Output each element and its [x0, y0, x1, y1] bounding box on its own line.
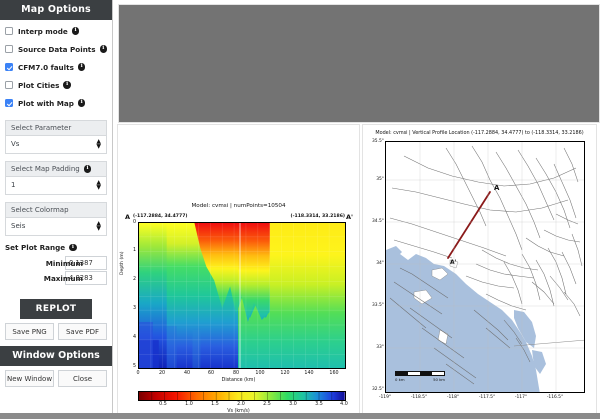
- info-icon-interp-mode[interactable]: i: [72, 27, 80, 35]
- map-lat-tick-4: 33.5°: [365, 303, 384, 308]
- checkbox-source-data-points[interactable]: [5, 45, 13, 53]
- checkbox-row-cfm-faults[interactable]: CFM7.0 faults i: [5, 62, 112, 72]
- select-colormap-value: Seis: [11, 222, 25, 230]
- panel-title-window-options: Window Options: [0, 346, 112, 366]
- map-lon-tick-2: -118°: [442, 395, 464, 400]
- info-icon-cfm-faults[interactable]: i: [78, 63, 86, 71]
- svg-text:A': A': [450, 259, 457, 266]
- x-tick-100: 100: [253, 371, 267, 376]
- map-lat-tick-1: 35°: [365, 177, 384, 182]
- select-parameter-value: Vs: [11, 140, 19, 148]
- scale-label-left: 0 km: [395, 377, 405, 382]
- colorbar: [138, 391, 346, 401]
- checkbox-label-interp-mode: Interp mode: [18, 27, 68, 36]
- group-header-select-parameter: Select Parameter: [6, 121, 106, 136]
- cross-section-coord-left: (-117.2884, 34.4777): [133, 214, 188, 219]
- map-plot[interactable]: Model: cvmsi | Vertical Profile Location…: [362, 124, 597, 419]
- window-buttons-row: New Window Close: [5, 370, 107, 387]
- set-plot-range-header: Set Plot Range i: [5, 243, 107, 252]
- x-tick-140: 140: [302, 371, 316, 376]
- scale-seg-2: [408, 372, 420, 375]
- chevron-updown-icon-colormap[interactable]: ▲▼: [96, 221, 101, 231]
- select-map-padding-value: 1: [11, 181, 15, 189]
- sidebar: Map Options Interp mode i Source Data Po…: [0, 0, 113, 419]
- group-label-select-map-padding: Select Map Padding: [11, 165, 80, 173]
- colorbar-tick-2: 1.5: [208, 402, 222, 407]
- cross-section-marker-a-prime: A': [346, 213, 353, 221]
- select-parameter[interactable]: Vs ▲▼: [6, 136, 106, 153]
- map-lon-tick-0: -119°: [374, 395, 396, 400]
- cross-section-x-axis-label: Distance (km): [118, 378, 359, 383]
- group-label-select-colormap: Select Colormap: [11, 206, 69, 214]
- empty-gray-panel: [118, 4, 600, 123]
- y-tick-4: 4: [127, 335, 136, 340]
- svg-text:A: A: [494, 184, 500, 192]
- cross-section-coord-right: (-118.3314, 33.2186): [291, 214, 346, 219]
- y-tick-5: 5: [127, 364, 136, 369]
- scale-seg-4: [432, 372, 444, 375]
- scale-seg-1: [396, 372, 408, 375]
- checkbox-row-plot-with-map[interactable]: Plot with Map i: [5, 98, 112, 108]
- scale-seg-3: [420, 372, 432, 375]
- save-buttons-row: Save PNG Save PDF: [5, 323, 107, 340]
- checkbox-list: Interp mode i Source Data Points i CFM7.…: [0, 20, 112, 120]
- scale-bar-graphic: [395, 371, 445, 376]
- y-tick-0: 0: [127, 220, 136, 225]
- map-lon-tick-3: -117.5°: [476, 395, 498, 400]
- group-select-colormap: Select Colormap Seis ▲▼: [5, 202, 107, 236]
- info-icon-plot-range[interactable]: i: [69, 244, 77, 252]
- group-header-select-colormap: Select Colormap: [6, 203, 106, 218]
- info-icon-plot-cities[interactable]: i: [63, 81, 71, 89]
- y-tick-2: 2: [127, 277, 136, 282]
- chevron-updown-icon-padding[interactable]: ▲▼: [96, 180, 101, 190]
- minimum-row: Minimum 0.1387: [5, 256, 107, 270]
- cross-section-y-axis-label: Depth (m): [120, 251, 125, 275]
- replot-button[interactable]: REPLOT: [20, 299, 93, 319]
- cross-section-axes: [138, 222, 346, 369]
- replot-section: REPLOT: [0, 299, 112, 319]
- x-tick-80: 80: [229, 371, 243, 376]
- checkbox-label-cfm-faults: CFM7.0 faults: [18, 63, 74, 72]
- cross-section-plot[interactable]: Model: cvmsi | numPoints=10504 A (-117.2…: [117, 124, 360, 419]
- y-tick-1: 1: [127, 248, 136, 253]
- maximum-row: Maximum 4.0283: [5, 271, 107, 285]
- map-title: Model: cvmsi | Vertical Profile Location…: [363, 130, 596, 136]
- group-header-select-map-padding: Select Map Padding i: [6, 162, 106, 177]
- map-lon-tick-5: -116.5°: [544, 395, 566, 400]
- checkbox-cfm-faults[interactable]: [5, 63, 13, 71]
- colorbar-tick-6: 3.5: [312, 402, 326, 407]
- map-lat-tick-3: 34°: [365, 261, 384, 266]
- save-pdf-button[interactable]: Save PDF: [58, 323, 107, 340]
- colorbar-tick-5: 3.0: [286, 402, 300, 407]
- checkbox-label-plot-with-map: Plot with Map: [18, 99, 74, 108]
- plots-container: Model: cvmsi | numPoints=10504 A (-117.2…: [113, 124, 600, 419]
- set-plot-range-section: Set Plot Range i Minimum 0.1387 Maximum …: [5, 243, 107, 285]
- colorbar-gradient: [139, 392, 345, 401]
- map-lon-tick-4: -117°: [510, 395, 532, 400]
- y-tick-3: 3: [127, 306, 136, 311]
- chevron-updown-icon-parameter[interactable]: ▲▼: [96, 139, 101, 149]
- bottom-status-bar: [0, 413, 600, 419]
- x-tick-60: 60: [204, 371, 218, 376]
- info-icon-map-padding[interactable]: i: [84, 165, 92, 173]
- group-select-map-padding: Select Map Padding i 1 ▲▼: [5, 161, 107, 195]
- app-root: Map Options Interp mode i Source Data Po…: [0, 0, 600, 419]
- checkbox-label-plot-cities: Plot Cities: [18, 81, 59, 90]
- map-lat-tick-6: 32.5°: [365, 387, 384, 392]
- x-tick-20: 20: [155, 371, 169, 376]
- map-lat-tick-0: 35.5°: [365, 139, 384, 144]
- minimum-label: Minimum: [46, 259, 83, 268]
- map-lon-tick-1: -118.5°: [408, 395, 430, 400]
- colorbar-tick-3: 2.0: [234, 402, 248, 407]
- x-tick-40: 40: [180, 371, 194, 376]
- save-png-button[interactable]: Save PNG: [5, 323, 54, 340]
- scale-label-right: 50 km: [433, 377, 445, 382]
- panel-title-map-options: Map Options: [0, 0, 112, 20]
- colorbar-tick-4: 2.5: [260, 402, 274, 407]
- velocity-heatmap-image: [139, 223, 345, 369]
- new-window-button[interactable]: New Window: [5, 370, 54, 387]
- colorbar-tick-0: 0.5: [156, 402, 170, 407]
- checkbox-row-plot-cities[interactable]: Plot Cities i: [5, 80, 112, 90]
- window-options-section: Window Options New Window Close: [0, 346, 112, 387]
- x-tick-0: 0: [131, 371, 145, 376]
- map-scale-bar: 0 km 50 km: [395, 371, 445, 382]
- x-tick-120: 120: [278, 371, 292, 376]
- map-lat-tick-2: 34.5°: [365, 219, 384, 224]
- info-icon-plot-with-map[interactable]: i: [78, 99, 86, 107]
- checkbox-row-interp-mode[interactable]: Interp mode i: [5, 26, 112, 36]
- cross-section-title: Model: cvmsi | numPoints=10504: [118, 203, 359, 209]
- x-tick-160: 160: [327, 371, 341, 376]
- main-area: Model: cvmsi | numPoints=10504 A (-117.2…: [113, 0, 600, 419]
- map-axes: A A': [385, 141, 585, 393]
- checkbox-plot-cities[interactable]: [5, 81, 13, 89]
- select-colormap[interactable]: Seis ▲▼: [6, 218, 106, 235]
- set-plot-range-label: Set Plot Range: [5, 243, 65, 252]
- checkbox-interp-mode[interactable]: [5, 27, 13, 35]
- checkbox-row-source-data-points[interactable]: Source Data Points i: [5, 44, 112, 54]
- checkbox-plot-with-map[interactable]: [5, 99, 13, 107]
- close-button[interactable]: Close: [58, 370, 107, 387]
- checkbox-label-source-data-points: Source Data Points: [18, 45, 96, 54]
- group-label-select-parameter: Select Parameter: [11, 124, 71, 132]
- select-map-padding[interactable]: 1 ▲▼: [6, 177, 106, 194]
- map-lat-tick-5: 33°: [365, 345, 384, 350]
- group-select-parameter: Select Parameter Vs ▲▼: [5, 120, 107, 154]
- colorbar-tick-1: 1.0: [182, 402, 196, 407]
- info-icon-source-data-points[interactable]: i: [100, 45, 108, 53]
- map-canvas: A A': [386, 142, 585, 393]
- scale-bar-labels: 0 km 50 km: [395, 377, 445, 382]
- colorbar-tick-7: 4.0: [337, 402, 351, 407]
- maximum-label: Maximum: [44, 274, 83, 283]
